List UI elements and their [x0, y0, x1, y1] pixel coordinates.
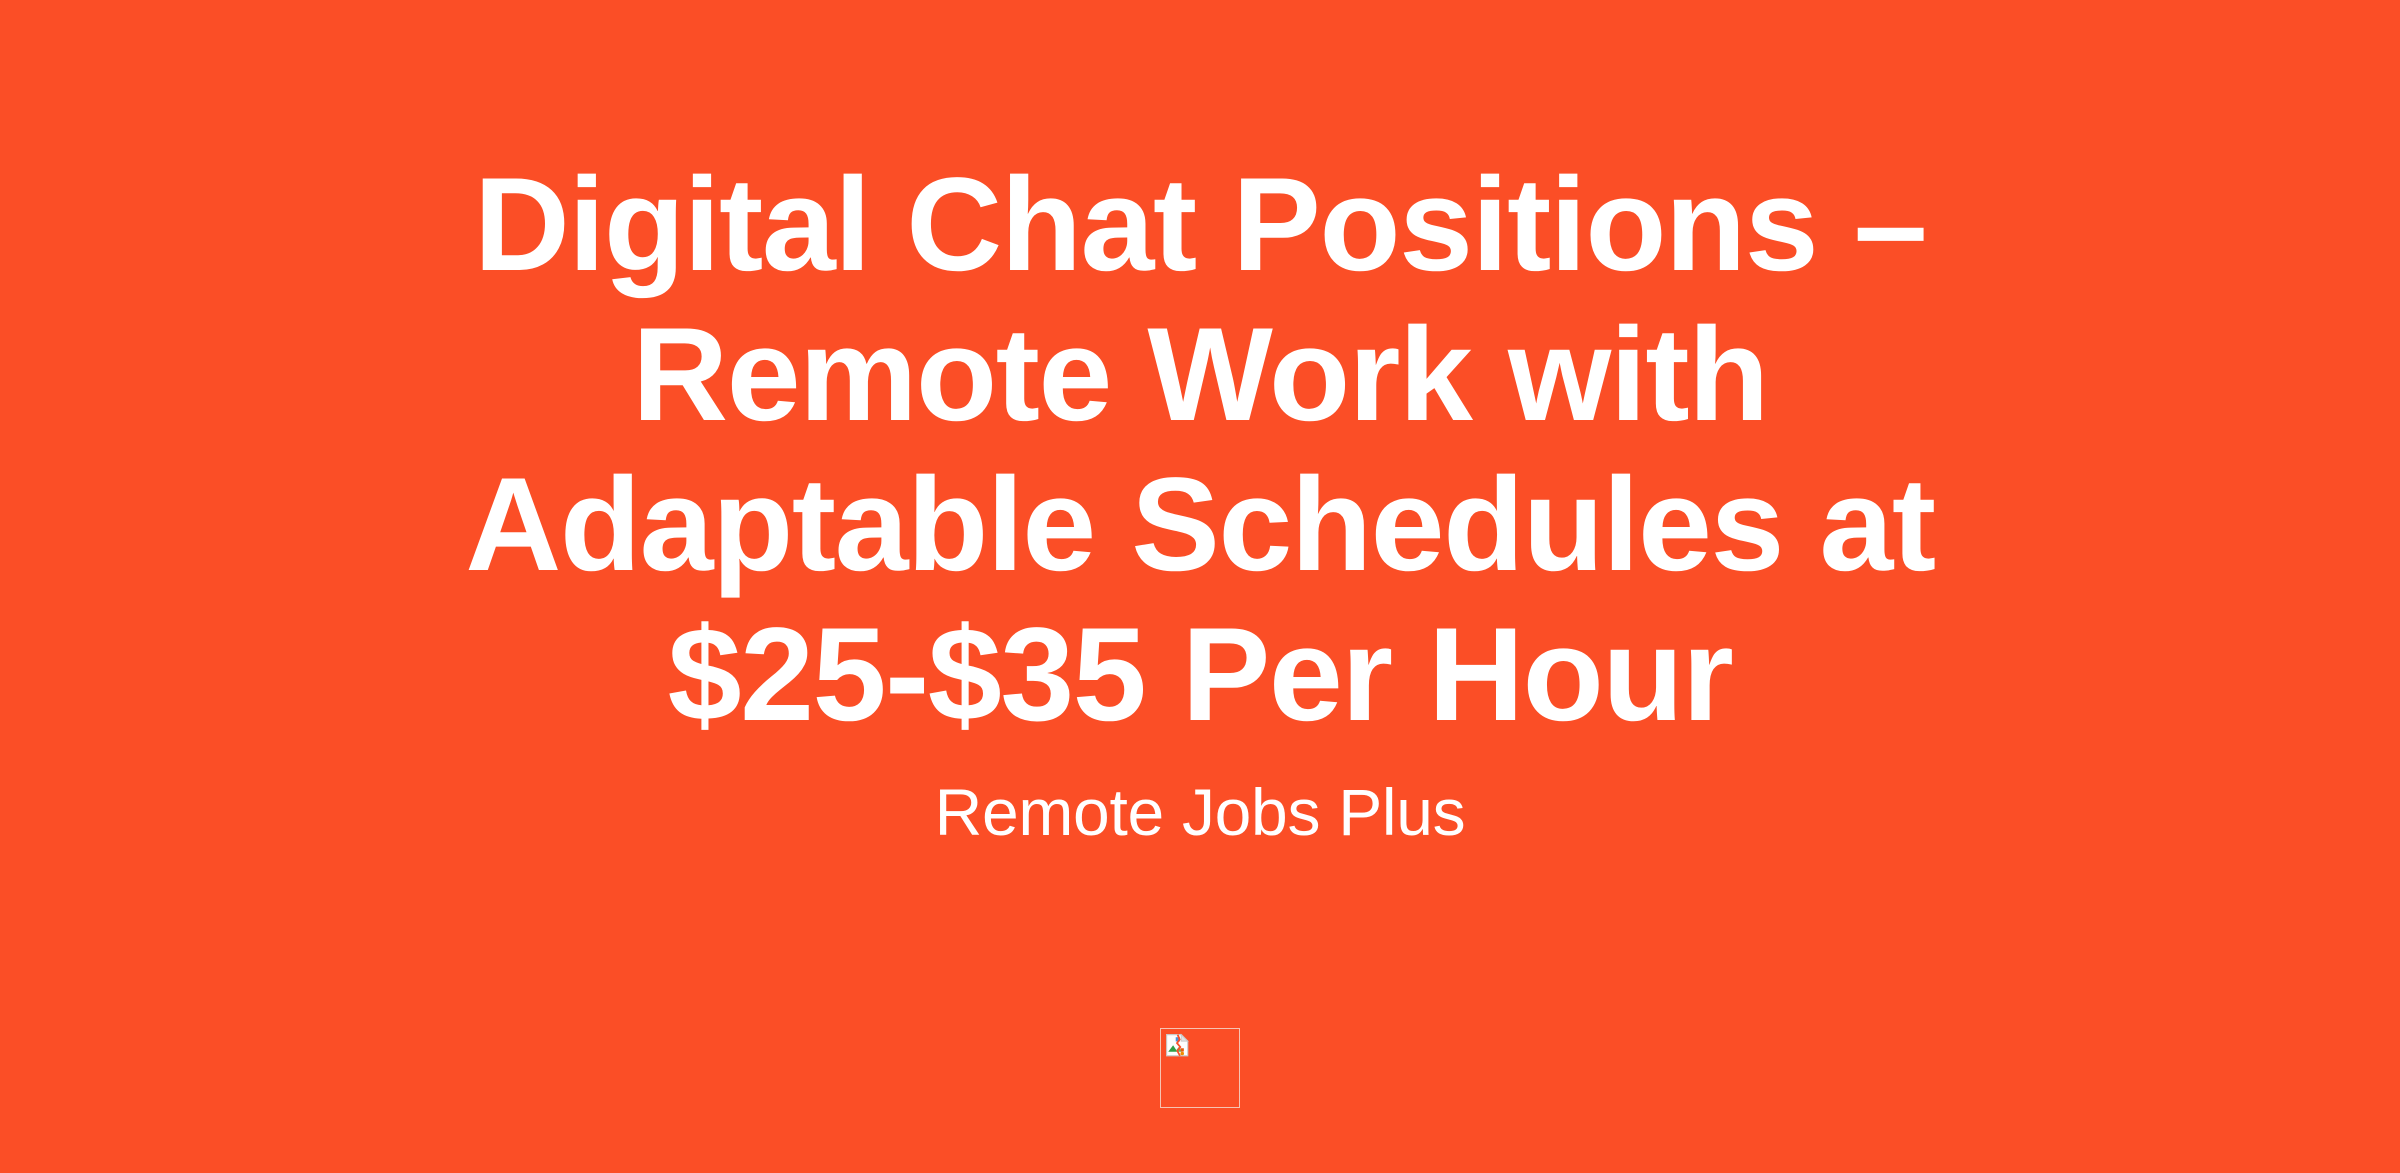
promo-banner-page: Digital Chat Positions – Remote Work wit… — [0, 0, 2400, 1173]
page-title: Digital Chat Positions – Remote Work wit… — [320, 150, 2080, 750]
broken-image-icon — [1165, 1033, 1191, 1059]
page-subtitle: Remote Jobs Plus — [935, 770, 1466, 854]
hero-section: Digital Chat Positions – Remote Work wit… — [0, 0, 2400, 854]
broken-image-placeholder[interactable] — [1160, 1028, 1240, 1108]
media-row — [0, 1028, 2400, 1108]
